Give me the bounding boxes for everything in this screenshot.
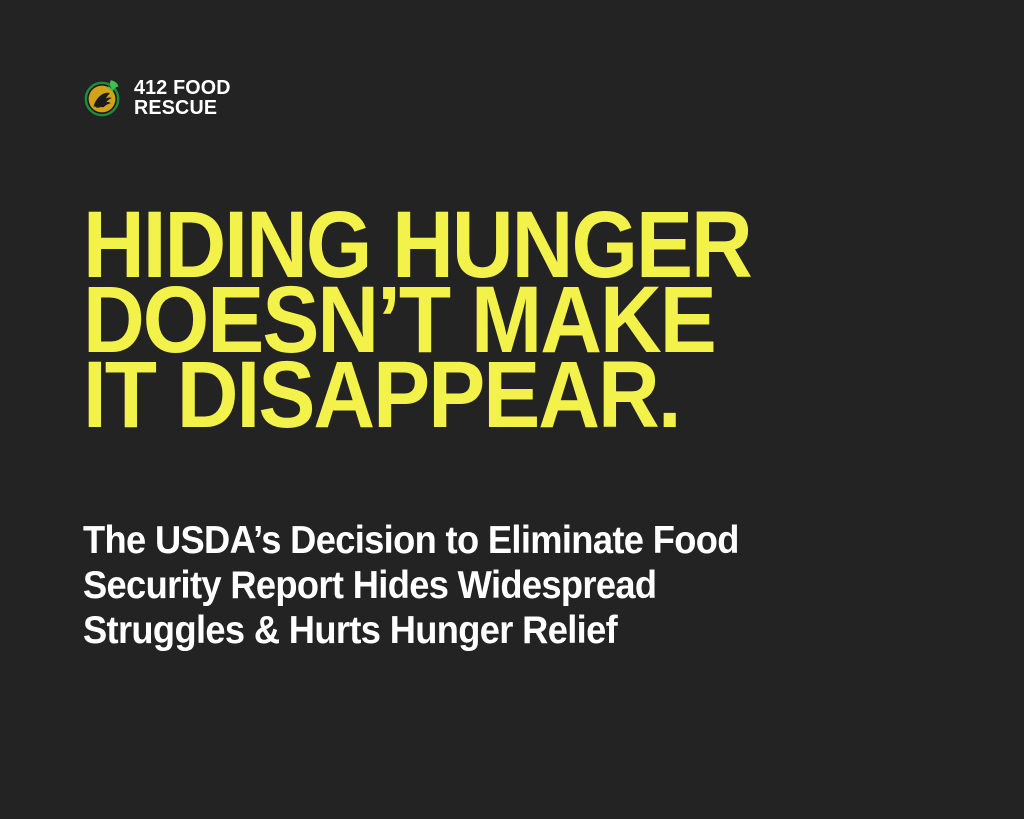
- brand-logo-lockup[interactable]: 412 FOOD RESCUE: [83, 76, 235, 120]
- subheading: The USDA’s Decision to Eliminate Food Se…: [83, 518, 883, 653]
- brand-wordmark: 412 FOOD RESCUE: [134, 78, 235, 119]
- poster-canvas: 412 FOOD RESCUE HIDING HUNGER DOESN’T MA…: [0, 0, 1024, 819]
- headline: HIDING HUNGER DOESN’T MAKE IT DISAPPEAR.: [83, 208, 943, 433]
- 412-food-rescue-emblem-icon: [83, 77, 125, 119]
- headline-line-3: IT DISAPPEAR.: [83, 358, 857, 433]
- wordmark-line-1: 412 FOOD: [134, 78, 231, 99]
- wordmark-line-2: RESCUE: [134, 98, 231, 119]
- subheading-line-3: Struggles & Hurts Hunger Relief: [83, 608, 827, 653]
- subheading-line-1: The USDA’s Decision to Eliminate Food: [83, 518, 827, 563]
- subheading-line-2: Security Report Hides Widespread: [83, 563, 827, 608]
